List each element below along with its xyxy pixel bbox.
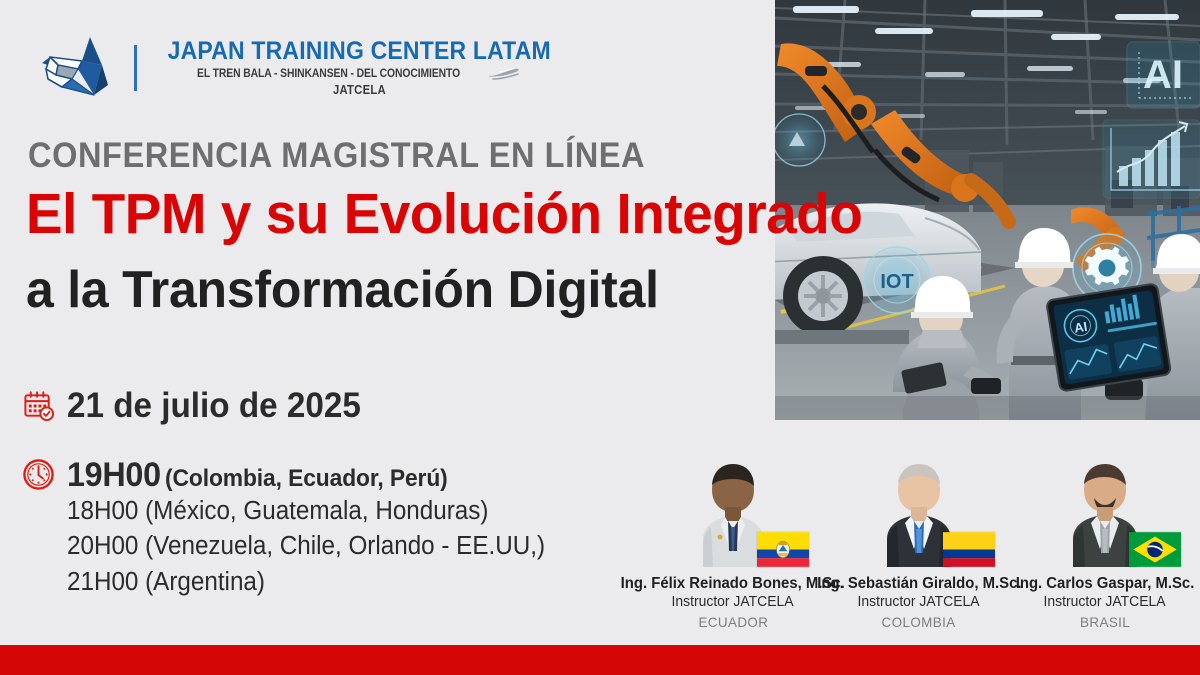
event-date-text: 21 de julio de 2025 bbox=[67, 388, 361, 423]
logo-text-group: JAPAN TRAINING CENTER LATAM EL TREN BALA… bbox=[151, 39, 568, 97]
speaker-country: COLOMBIA bbox=[882, 612, 956, 632]
origami-crane-icon bbox=[32, 35, 124, 101]
speaker-card: Ing. Félix Reinado Bones, M.Sc. Instruct… bbox=[640, 455, 826, 633]
speaker-country: ECUADOR bbox=[698, 612, 768, 632]
time-primary: 19H00 (Colombia, Ecuador, Perú) bbox=[67, 458, 545, 493]
speaker-role: Instructor JATCELA bbox=[1044, 593, 1166, 612]
brand-logo: JAPAN TRAINING CENTER LATAM EL TREN BALA… bbox=[32, 33, 568, 103]
speaker-role: Instructor JATCELA bbox=[672, 593, 794, 612]
event-date-row: 21 de julio de 2025 bbox=[17, 388, 376, 423]
brand-tagline-row: EL TREN BALA - SHINKANSEN - DEL CONOCIMI… bbox=[197, 67, 521, 81]
logo-divider bbox=[134, 45, 137, 91]
brand-tagline: EL TREN BALA - SHINKANSEN - DEL CONOCIMI… bbox=[197, 69, 460, 81]
hud-circle-left bbox=[775, 114, 825, 166]
speaker-photo-wrap bbox=[859, 455, 979, 567]
headline-primary: El TPM y su Evolución Integrado bbox=[26, 186, 862, 243]
svg-text:AI: AI bbox=[1143, 53, 1183, 97]
chart-hud-panel bbox=[1103, 120, 1200, 198]
bullet-train-icon bbox=[487, 67, 521, 81]
flag-ecuador bbox=[757, 532, 809, 567]
time-alt-3: 21H00 (Argentina) bbox=[67, 566, 545, 600]
flag-colombia bbox=[943, 532, 995, 567]
time-alt-1: 18H00 (México, Guatemala, Honduras) bbox=[67, 495, 545, 529]
brand-title: JAPAN TRAINING CENTER LATAM bbox=[168, 39, 551, 64]
speaker-card: Ing. Carlos Gaspar, M.Sc. Instructor JAT… bbox=[1012, 455, 1198, 633]
speaker-name: Ing. Félix Reinado Bones, M.Sc. bbox=[621, 574, 845, 593]
ai-hud-panel: AI bbox=[1127, 42, 1200, 108]
speaker-card: Ing. Sebastián Giraldo, M.Sc. Instructor… bbox=[826, 455, 1012, 633]
event-time-block: 19H00 (Colombia, Ecuador, Perú) 18H00 (M… bbox=[17, 458, 570, 600]
headline-secondary: a la Transformación Digital bbox=[26, 264, 659, 316]
clock-icon bbox=[22, 458, 55, 491]
time-primary-zones: (Colombia, Ecuador, Perú) bbox=[165, 465, 448, 492]
tablet-dashboard: AI bbox=[1046, 283, 1171, 391]
calendar-check-icon bbox=[22, 389, 55, 422]
footer-accent-bar bbox=[0, 645, 1200, 675]
calendar-icon-wrap bbox=[17, 389, 59, 422]
time-text-group: 19H00 (Colombia, Ecuador, Perú) 18H00 (M… bbox=[67, 458, 570, 600]
webinar-poster: JAPAN TRAINING CENTER LATAM EL TREN BALA… bbox=[0, 0, 1200, 675]
speaker-country: BRASIL bbox=[1080, 612, 1130, 632]
speaker-photo-wrap bbox=[1045, 455, 1165, 567]
kicker-text: CONFERENCIA MAGISTRAL EN LÍNEA bbox=[28, 138, 645, 173]
time-primary-hour: 19H00 bbox=[67, 456, 161, 494]
speaker-photo-wrap bbox=[673, 455, 793, 567]
speaker-role: Instructor JATCELA bbox=[858, 593, 980, 612]
flag-brasil bbox=[1129, 532, 1181, 567]
clock-icon-wrap bbox=[17, 458, 59, 491]
brand-acronym: JATCELA bbox=[333, 84, 386, 97]
speakers-row: Ing. Félix Reinado Bones, M.Sc. Instruct… bbox=[640, 455, 1200, 633]
speaker-name: Ing. Sebastián Giraldo, M.Sc. bbox=[817, 574, 1021, 593]
svg-text:IOT: IOT bbox=[880, 271, 913, 293]
svg-text:AI: AI bbox=[1073, 319, 1088, 336]
speaker-name: Ing. Carlos Gaspar, M.Sc. bbox=[1016, 574, 1195, 593]
time-alt-2: 20H00 (Venezuela, Chile, Orlando - EE.UU… bbox=[67, 530, 545, 564]
